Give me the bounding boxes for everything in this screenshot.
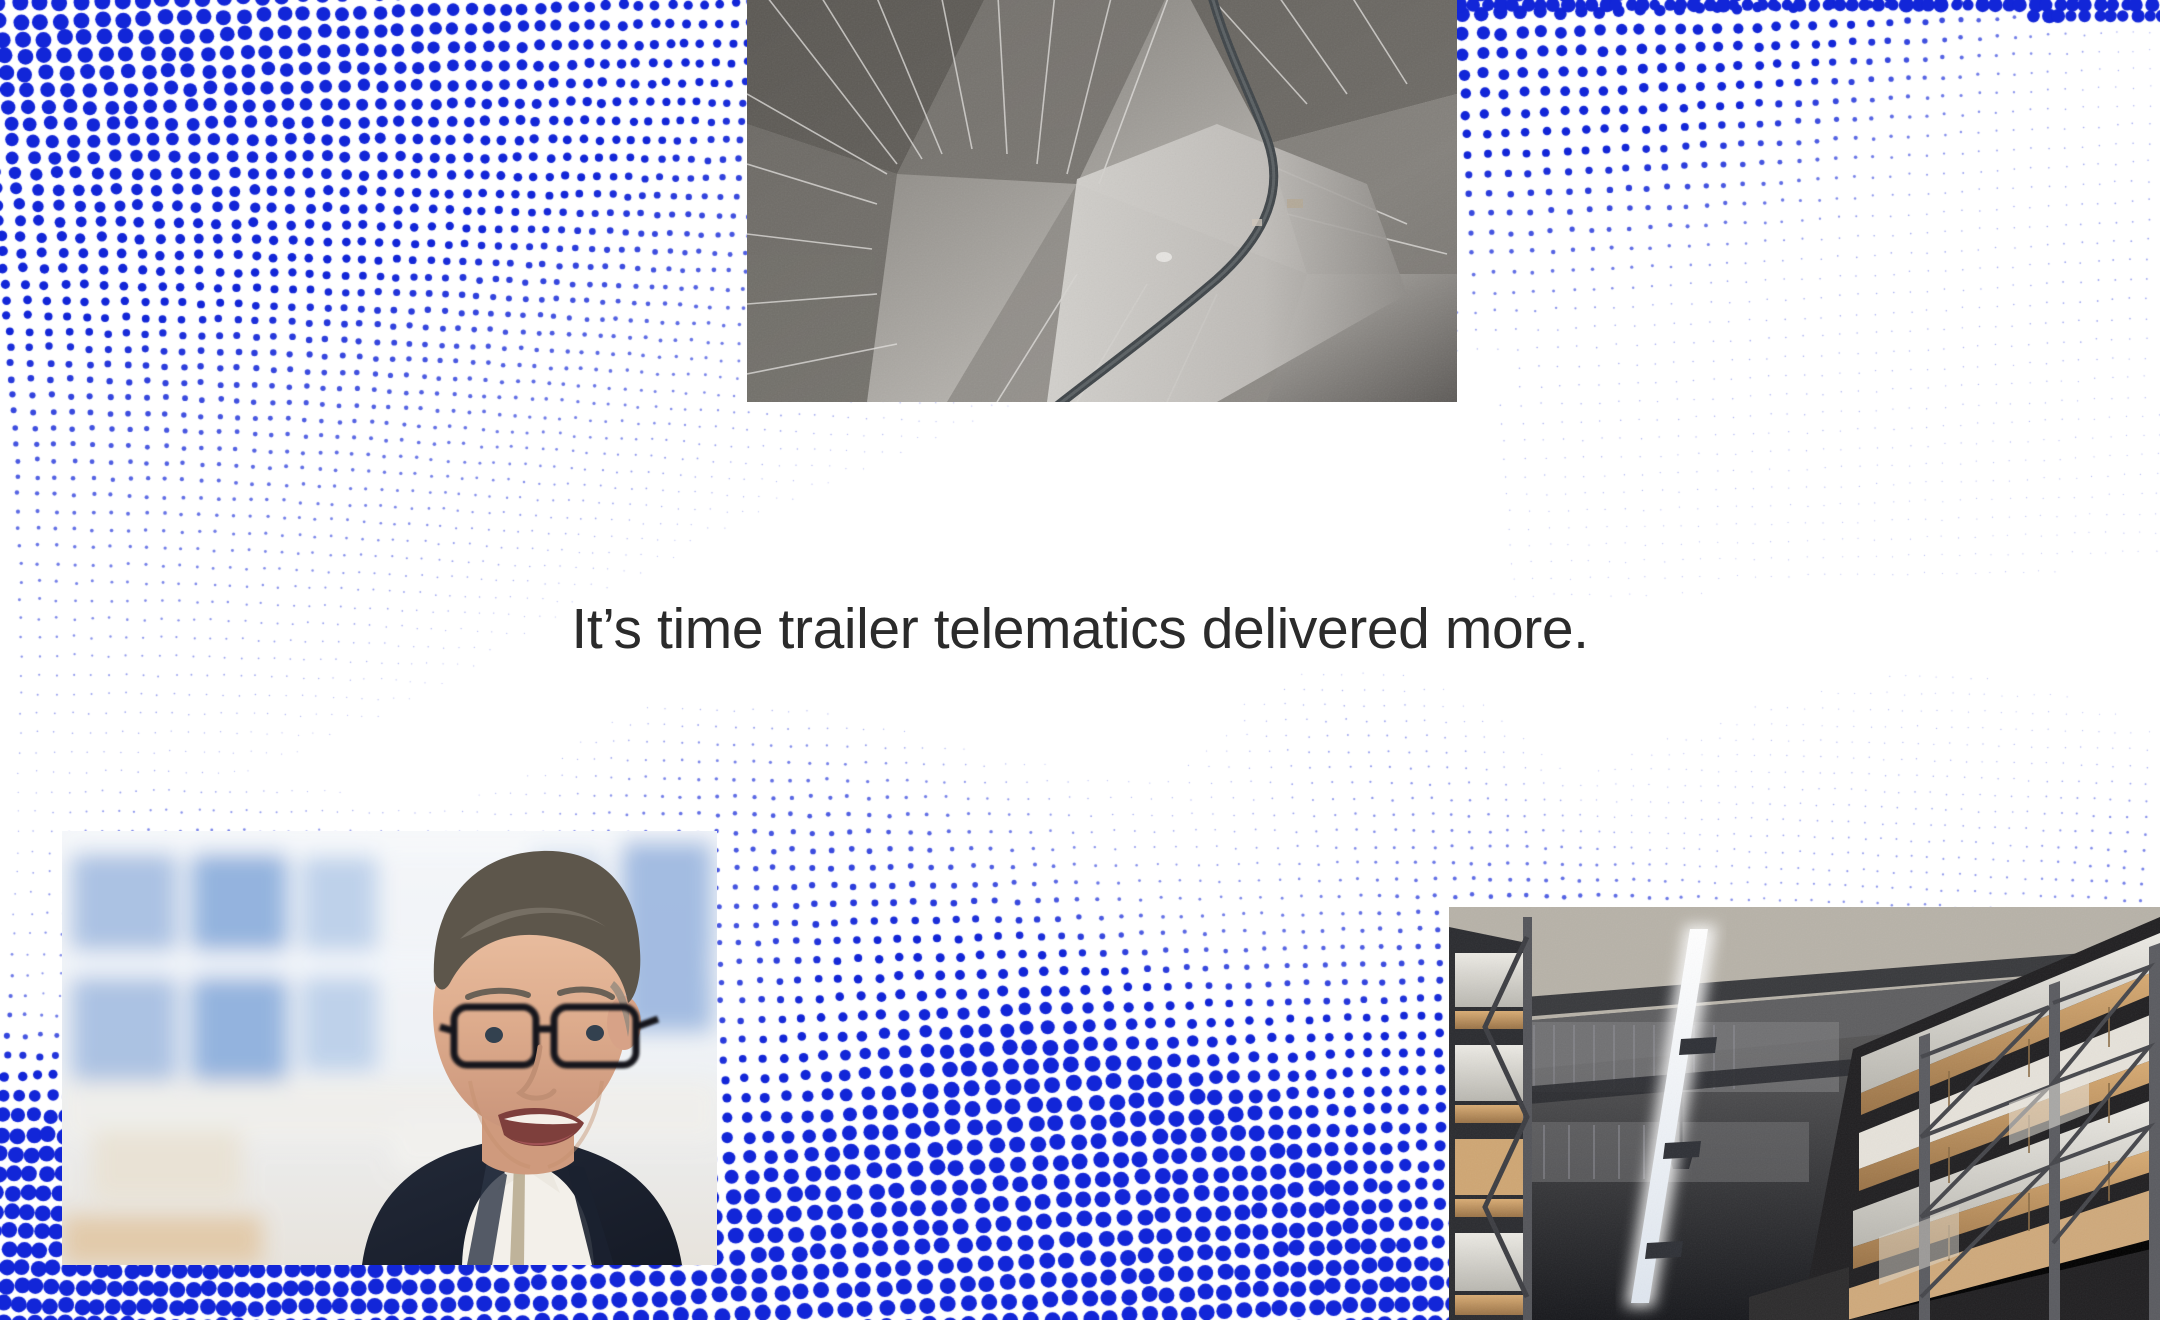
aerial-road-artwork [747, 0, 1457, 402]
image-warehouse-racking [1449, 907, 2160, 1320]
executive-portrait-artwork [62, 831, 717, 1265]
page-headline: It’s time trailer telematics delivered m… [0, 598, 2160, 661]
image-executive-portrait [62, 831, 717, 1265]
hero-section: It’s time trailer telematics delivered m… [0, 0, 2160, 1320]
warehouse-artwork [1449, 907, 2160, 1320]
image-aerial-road [747, 0, 1457, 402]
